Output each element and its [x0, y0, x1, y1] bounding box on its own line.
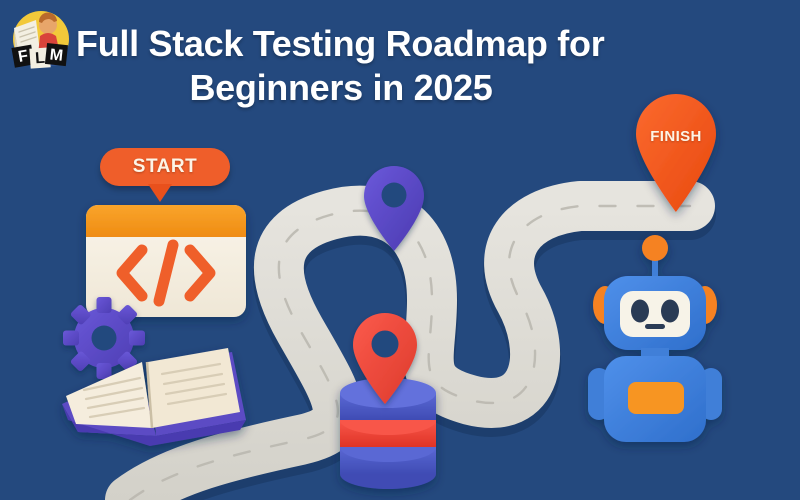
start-marker-label: START [100, 148, 230, 186]
start-marker[interactable]: START [100, 148, 230, 186]
svg-text:L: L [35, 50, 46, 68]
svg-text:M: M [49, 46, 64, 64]
poster-canvas: F L M Full Stack Testing Roadmap for Beg… [0, 0, 800, 500]
page-title: Full Stack Testing Roadmap for Beginners… [76, 22, 666, 110]
robot-mascot [588, 235, 722, 442]
page-title-line2: Beginners in 2025 [76, 66, 666, 110]
page-title-line1: Full Stack Testing Roadmap for [76, 22, 666, 66]
start-marker-tail [148, 184, 172, 202]
flm-logo[interactable]: F L M [6, 8, 76, 72]
